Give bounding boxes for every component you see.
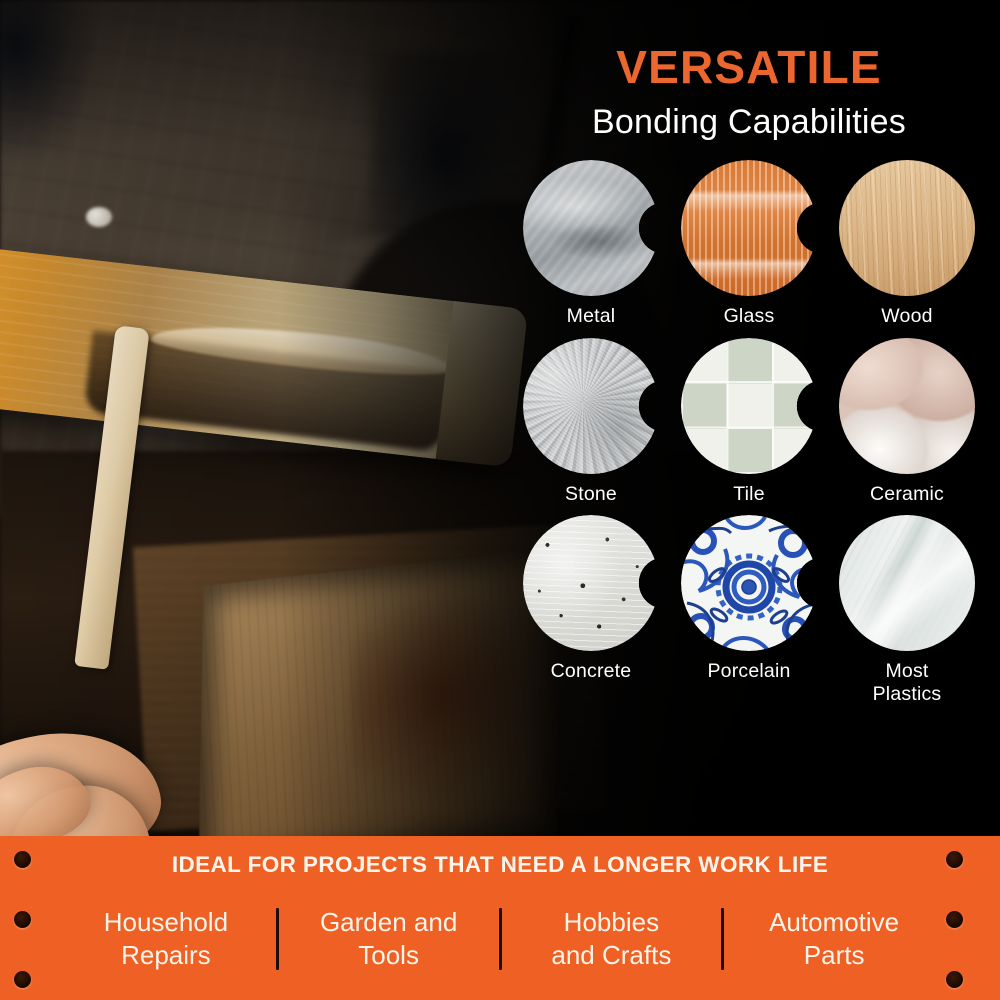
material-label: Concrete	[551, 660, 632, 683]
divider	[721, 908, 724, 970]
material-swatch-grid: Metal Glass Wood Stone Tile Ceramic	[512, 160, 986, 705]
material-item-tile[interactable]: Tile	[670, 338, 828, 506]
material-label: Stone	[565, 483, 617, 506]
material-label: Porcelain	[707, 660, 790, 683]
material-label: Ceramic	[870, 483, 944, 506]
divider	[499, 908, 502, 970]
wood-texture-icon	[839, 160, 975, 296]
porcelain-texture-icon	[681, 515, 817, 651]
stone-texture-icon	[523, 338, 659, 474]
page-title: VERSATILE	[498, 44, 1000, 90]
plastic-texture-icon	[839, 515, 975, 651]
material-item-concrete[interactable]: Concrete	[512, 515, 670, 705]
material-item-porcelain[interactable]: Porcelain	[670, 515, 828, 705]
use-case-garden-and-tools: Garden and Tools	[283, 906, 495, 973]
material-item-stone[interactable]: Stone	[512, 338, 670, 506]
use-case-hobbies-and-crafts: Hobbies and Crafts	[506, 906, 718, 973]
material-label: Metal	[567, 305, 616, 328]
punch-hole-icon	[946, 911, 963, 928]
material-label: Glass	[724, 305, 775, 328]
material-item-metal[interactable]: Metal	[512, 160, 670, 328]
punch-hole-icon	[14, 911, 31, 928]
material-item-wood[interactable]: Wood	[828, 160, 986, 328]
concrete-texture-icon	[523, 515, 659, 651]
divider	[276, 908, 279, 970]
material-label: Most Plastics	[873, 660, 942, 705]
material-label: Wood	[881, 305, 932, 328]
tile-texture-icon	[681, 338, 817, 474]
product-feature-graphic: VERSATILE Bonding Capabilities Metal Gla…	[0, 0, 1000, 1000]
page-subtitle: Bonding Capabilities	[498, 104, 1000, 141]
material-label: Tile	[733, 483, 765, 506]
punch-hole-icon	[14, 971, 31, 988]
material-item-most-plastics[interactable]: Most Plastics	[828, 515, 986, 705]
material-item-glass[interactable]: Glass	[670, 160, 828, 328]
glass-texture-icon	[681, 160, 817, 296]
bottom-banner: IDEAL FOR PROJECTS THAT NEED A LONGER WO…	[0, 836, 1000, 1000]
ceramic-texture-icon	[839, 338, 975, 474]
use-case-household-repairs: Household Repairs	[60, 906, 272, 973]
use-case-list: Household Repairs Garden and Tools Hobbi…	[60, 906, 940, 973]
use-case-automotive-parts: Automotive Parts	[728, 906, 940, 973]
banner-headline: IDEAL FOR PROJECTS THAT NEED A LONGER WO…	[0, 852, 1000, 878]
metal-texture-icon	[523, 160, 659, 296]
material-item-ceramic[interactable]: Ceramic	[828, 338, 986, 506]
content-panel: VERSATILE Bonding Capabilities Metal Gla…	[498, 0, 1000, 836]
punch-hole-icon	[946, 971, 963, 988]
